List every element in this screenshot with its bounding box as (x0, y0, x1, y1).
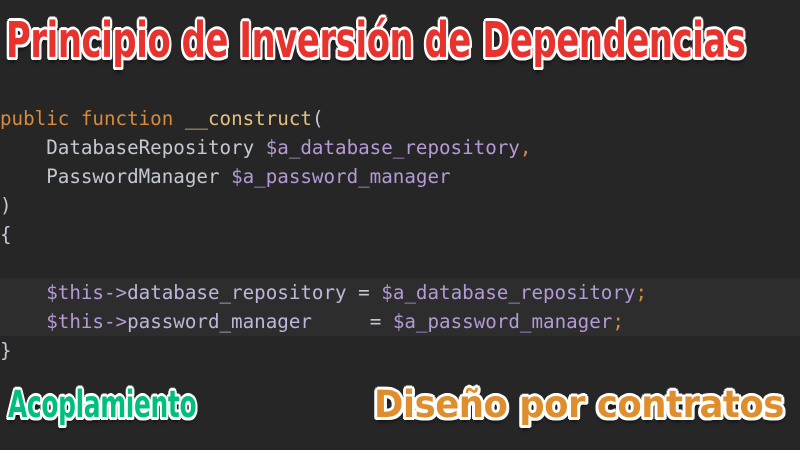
code-token: { (0, 223, 12, 246)
code-token: = (358, 281, 370, 304)
page-title-text: Principio de Inversión de Dependencias (6, 16, 746, 65)
code-token: , (520, 136, 532, 159)
code-token: $a_password_manager (393, 310, 613, 333)
code-token: ; (612, 310, 624, 333)
code-token: $this (46, 310, 104, 333)
code-line: } (0, 336, 800, 365)
code-line: ) (0, 191, 800, 220)
code-token: ) (0, 194, 12, 217)
code-line: PasswordManager $a_password_manager (0, 162, 800, 191)
code-token: $this (46, 281, 104, 304)
code-token: public (0, 107, 69, 130)
code-line: $this->database_repository = $a_database… (0, 278, 800, 307)
code-token (0, 281, 46, 304)
label-design-by-contract: Diseño por contratos (374, 386, 800, 423)
code-token (358, 310, 370, 333)
code-token: -> (104, 310, 127, 333)
code-token (0, 136, 46, 159)
code-token: DatabaseRepository (46, 136, 254, 159)
page-title: Principio de Inversión de Dependencias (6, 17, 800, 63)
code-token: } (0, 339, 12, 362)
code-block: public function __construct( DatabaseRep… (0, 104, 800, 370)
code-line: public function __construct( (0, 104, 800, 133)
code-token (69, 107, 81, 130)
code-token (0, 165, 46, 188)
code-token: __construct (185, 107, 312, 130)
code-line: { (0, 220, 800, 249)
code-token: ; (635, 281, 647, 304)
code-token: $a_password_manager (231, 165, 451, 188)
code-token: PasswordManager (46, 165, 219, 188)
code-token (381, 310, 393, 333)
code-line (0, 249, 800, 278)
code-token (370, 281, 382, 304)
code-token (220, 165, 232, 188)
code-token (254, 136, 266, 159)
code-token (347, 281, 359, 304)
label-design-by-contract-text: Diseño por contratos (374, 386, 784, 423)
code-token: ( (312, 107, 324, 130)
code-token (0, 310, 46, 333)
code-line: $this->password_manager = $a_password_ma… (0, 307, 800, 336)
code-token: -> (104, 281, 127, 304)
code-token (312, 310, 358, 333)
code-token: $a_database_repository (381, 281, 635, 304)
code-token: $a_database_repository (266, 136, 520, 159)
code-token: = (370, 310, 382, 333)
code-token (173, 107, 185, 130)
code-token: function (81, 107, 173, 130)
code-token: password_manager (127, 310, 312, 333)
slide-canvas: Principio de Inversión de Dependencias p… (0, 0, 800, 450)
code-token: database_repository (127, 281, 347, 304)
label-coupling-text: Acoplamiento (8, 386, 196, 423)
label-coupling: Acoplamiento (8, 386, 288, 423)
code-line: DatabaseRepository $a_database_repositor… (0, 133, 800, 162)
